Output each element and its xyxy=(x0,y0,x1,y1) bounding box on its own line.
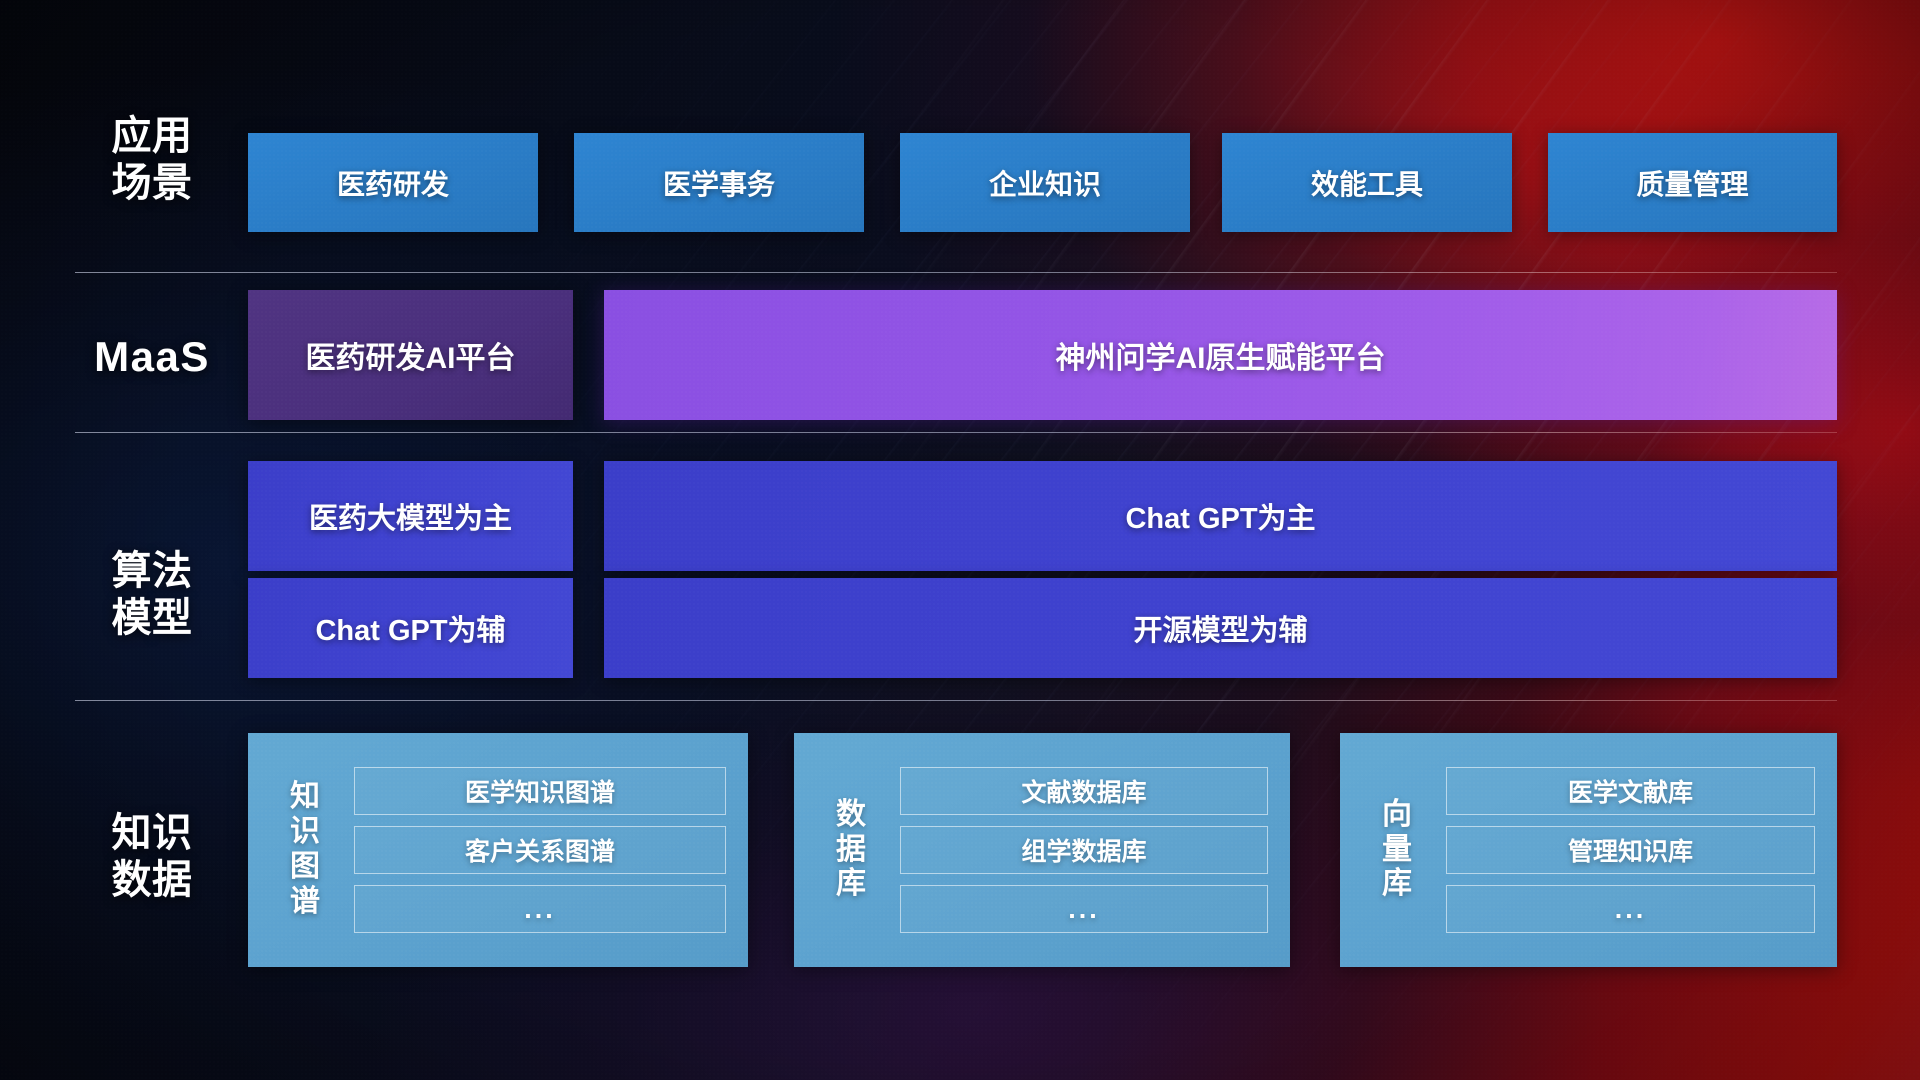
algorithm-label: Chat GPT为辅 xyxy=(315,607,505,649)
row-label-maas: MaaS xyxy=(72,332,232,382)
knowledge-panel-item-list: 医学文献库 管理知识库 ... xyxy=(1436,751,1837,949)
knowledge-item[interactable]: 客户关系图谱 xyxy=(354,826,726,874)
architecture-diagram: 应用 场景 医药研发 医学事务 企业知识 效能工具 质量管理 MaaS 医药研发… xyxy=(0,0,1920,1080)
divider-maas-algorithm xyxy=(75,432,1837,433)
row-label-application-scenario: 应用 场景 xyxy=(72,113,232,207)
knowledge-panel-item-list: 文献数据库 组学数据库 ... xyxy=(890,751,1290,949)
scenario-box-quality-management[interactable]: 质量管理 xyxy=(1548,133,1837,232)
scenario-label: 质量管理 xyxy=(1636,163,1748,203)
knowledge-panel-vector-database[interactable]: 向 量 库 医学文献库 管理知识库 ... xyxy=(1340,733,1837,967)
algorithm-box-chatgpt-primary[interactable]: Chat GPT为主 xyxy=(604,461,1837,571)
knowledge-item-more[interactable]: ... xyxy=(900,885,1268,933)
knowledge-item-more[interactable]: ... xyxy=(1446,885,1815,933)
algorithm-label: 医药大模型为主 xyxy=(309,495,512,537)
knowledge-item[interactable]: 医学知识图谱 xyxy=(354,767,726,815)
knowledge-panel-item-list: 医学知识图谱 客户关系图谱 ... xyxy=(344,751,748,949)
knowledge-item[interactable]: 文献数据库 xyxy=(900,767,1268,815)
knowledge-item[interactable]: 组学数据库 xyxy=(900,826,1268,874)
maas-box-shenzhou-wenxue-platform[interactable]: 神州问学AI原生赋能平台 xyxy=(604,290,1837,420)
knowledge-item[interactable]: 管理知识库 xyxy=(1446,826,1815,874)
row-label-algorithm-model: 算法 模型 xyxy=(72,548,232,642)
scenario-box-medical-affairs[interactable]: 医学事务 xyxy=(574,133,864,232)
knowledge-panel-database[interactable]: 数 据 库 文献数据库 组学数据库 ... xyxy=(794,733,1290,967)
row-label-knowledge-data: 知识 数据 xyxy=(72,810,232,904)
maas-box-pharma-ai-platform[interactable]: 医药研发AI平台 xyxy=(248,290,573,420)
knowledge-panel-knowledge-graph[interactable]: 知 识 图 谱 医学知识图谱 客户关系图谱 ... xyxy=(248,733,748,967)
algorithm-label: Chat GPT为主 xyxy=(1125,495,1315,537)
scenario-box-pharma-rnd[interactable]: 医药研发 xyxy=(248,133,538,232)
scenario-label: 效能工具 xyxy=(1311,163,1423,203)
scenario-label: 企业知识 xyxy=(989,163,1101,203)
algorithm-box-opensource-secondary[interactable]: 开源模型为辅 xyxy=(604,578,1837,678)
algorithm-label: 开源模型为辅 xyxy=(1133,607,1307,649)
knowledge-panel-title: 数 据 库 xyxy=(812,798,890,902)
divider-algorithm-knowledge xyxy=(75,700,1837,701)
scenario-label: 医学事务 xyxy=(663,163,775,203)
knowledge-panel-title: 向 量 库 xyxy=(1358,798,1436,902)
algorithm-box-chatgpt-secondary[interactable]: Chat GPT为辅 xyxy=(248,578,573,678)
maas-label: 医药研发AI平台 xyxy=(306,333,516,377)
knowledge-item[interactable]: 医学文献库 xyxy=(1446,767,1815,815)
scenario-box-enterprise-knowledge[interactable]: 企业知识 xyxy=(900,133,1190,232)
scenario-box-efficiency-tools[interactable]: 效能工具 xyxy=(1222,133,1512,232)
divider-application-maas xyxy=(75,272,1837,273)
knowledge-panel-title: 知 识 图 谱 xyxy=(266,780,344,919)
maas-label: 神州问学AI原生赋能平台 xyxy=(1056,333,1386,377)
algorithm-box-pharma-llm-primary[interactable]: 医药大模型为主 xyxy=(248,461,573,571)
knowledge-item-more[interactable]: ... xyxy=(354,885,726,933)
scenario-label: 医药研发 xyxy=(337,163,449,203)
